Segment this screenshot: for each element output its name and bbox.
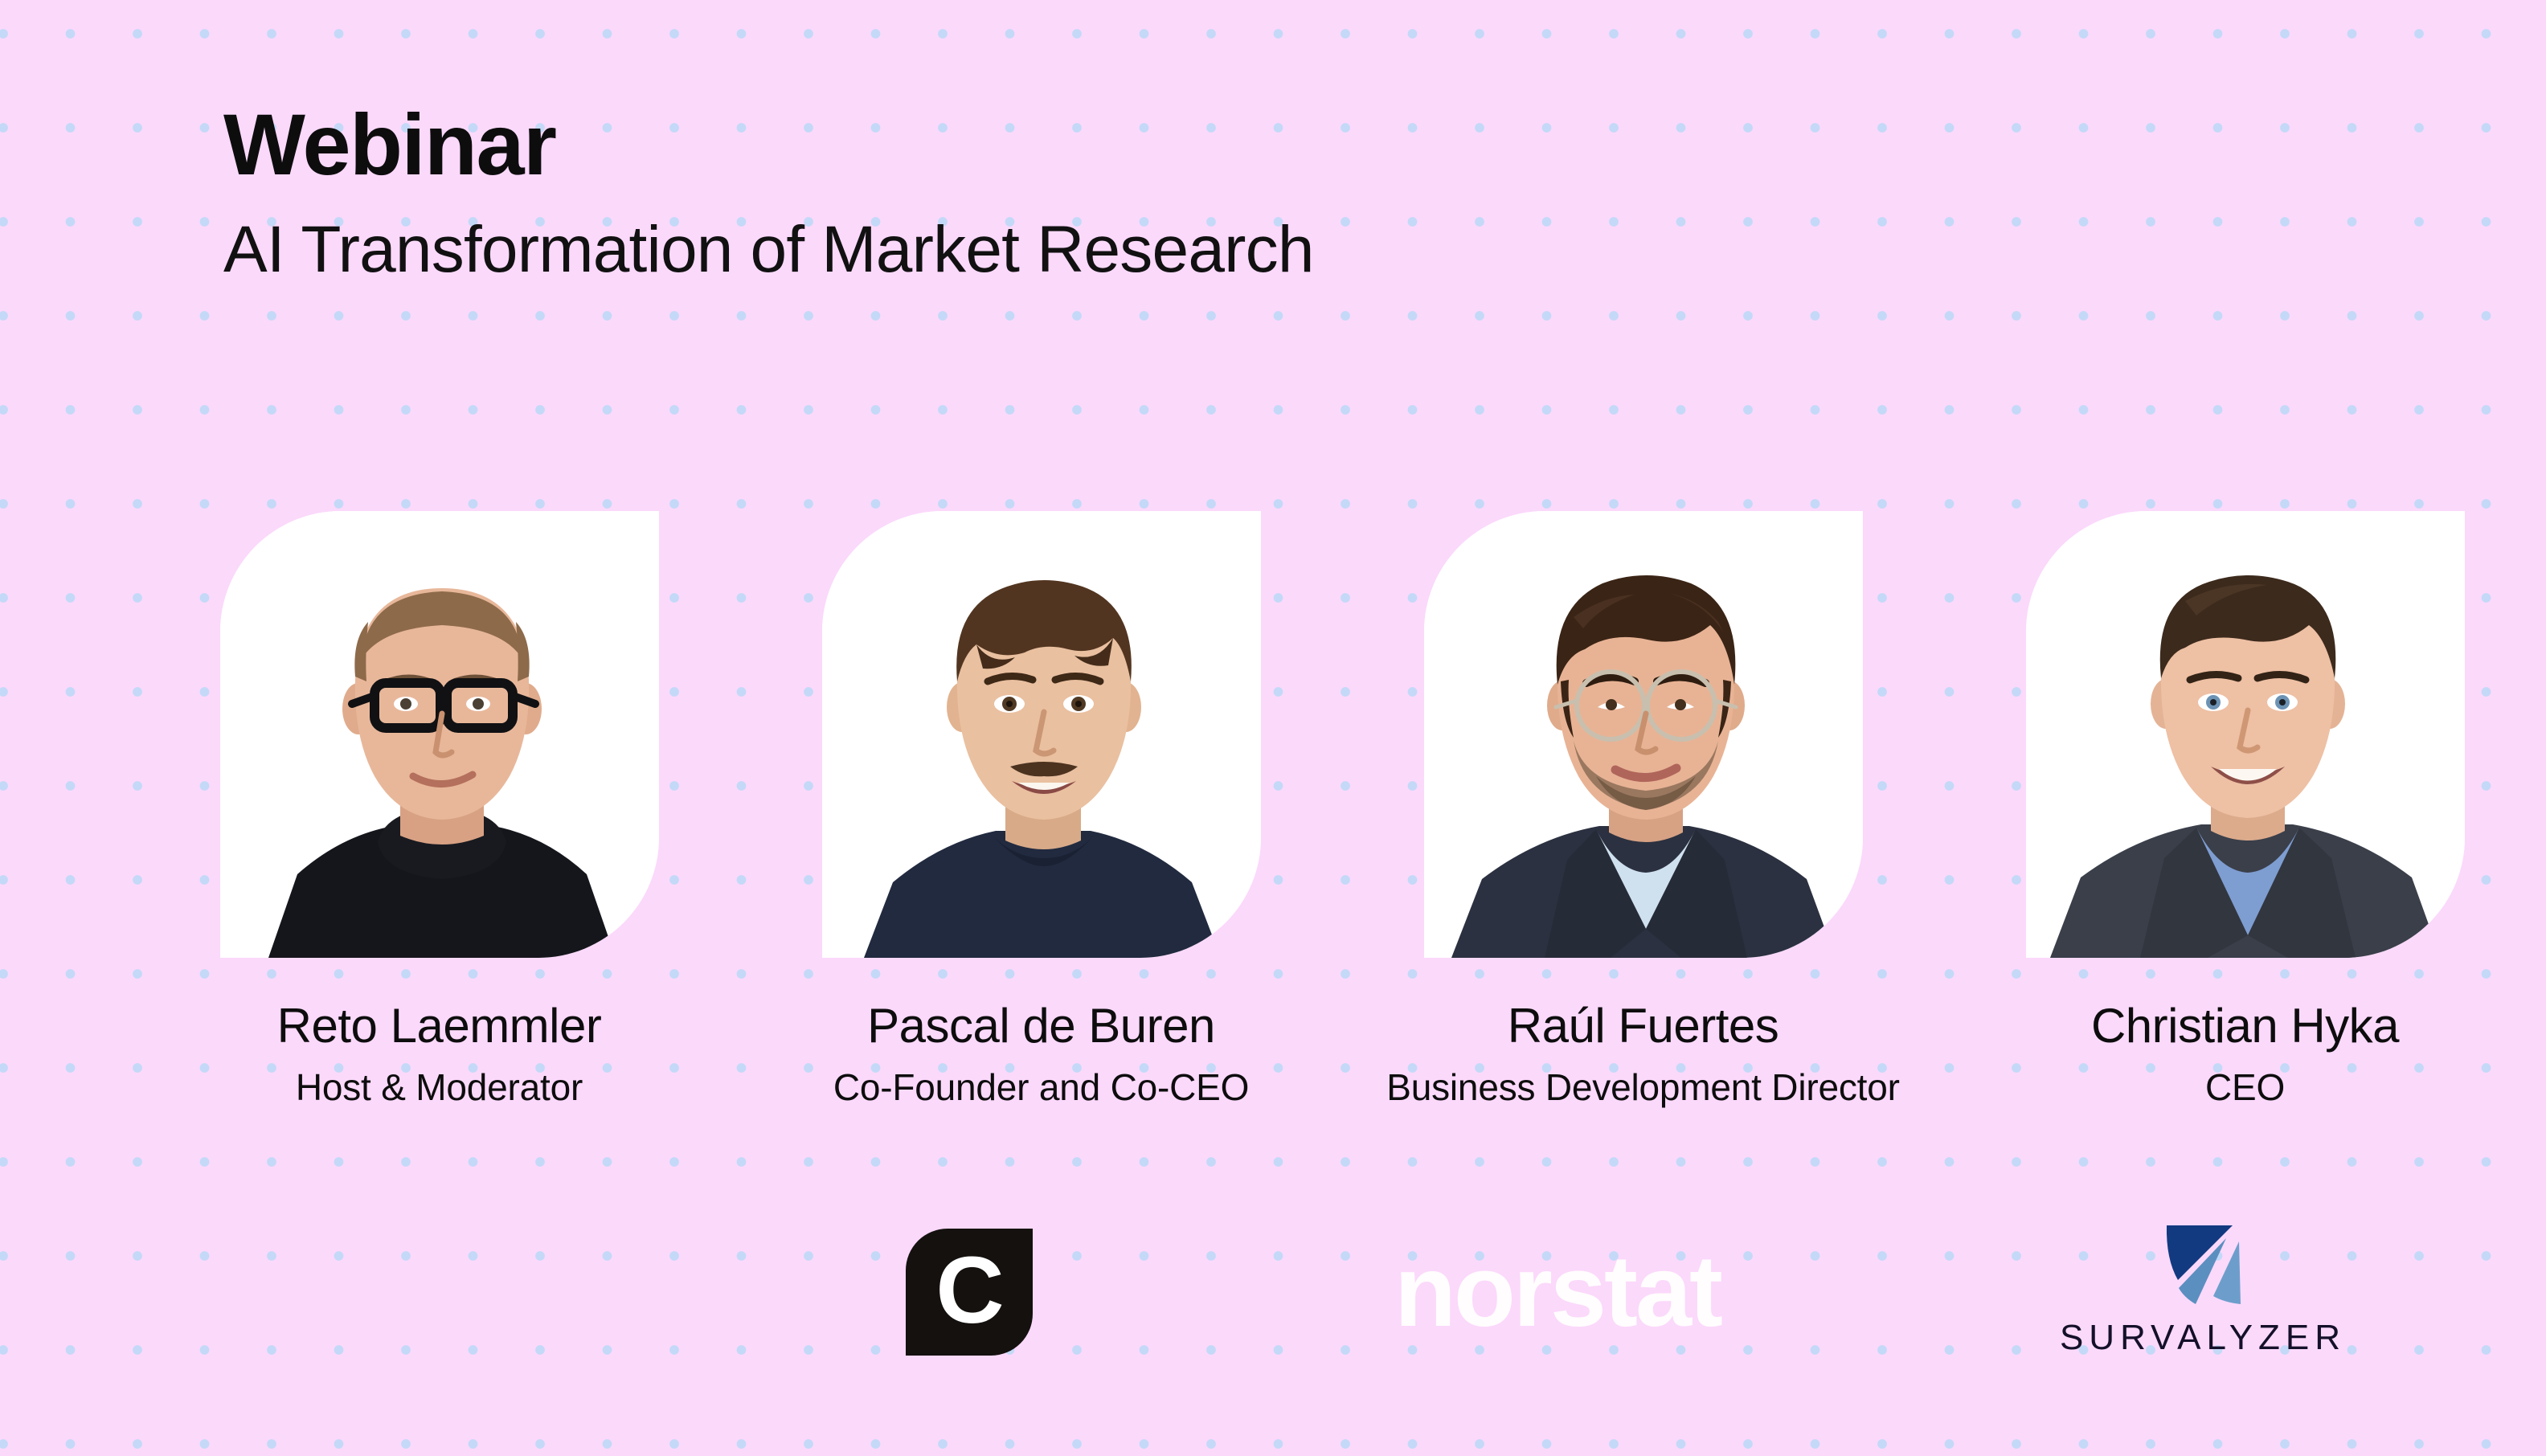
webinar-poster: Webinar AI Transformation of Market Rese… [0,0,2546,1456]
logo-caplena: C [849,1212,1090,1372]
speaker-name: Christian Hyka [2091,1000,2399,1053]
portrait-illustration [220,511,659,958]
speaker-photo-pascal-de-buren [822,511,1261,958]
speaker-role: Host & Moderator [296,1067,583,1108]
speaker-list: Reto Laemmler Host & Moderator [0,511,2546,1108]
speaker-card: Reto Laemmler Host & Moderator [138,511,740,1108]
survalyzer-mark-icon [2143,1221,2263,1314]
survalyzer-wordmark: SURVALYZER [2060,1320,2346,1356]
logo-row: C norstat SURVALYZER [0,1196,2546,1380]
speaker-role: Co-Founder and Co-CEO [833,1067,1249,1108]
norstat-wordmark: norstat [1394,1241,1721,1342]
speaker-card: Pascal de Buren Co-Founder and Co-CEO [740,511,1342,1108]
page-title: Webinar [223,96,2152,194]
portrait-illustration [1424,511,1863,958]
speaker-card: Christian Hyka CEO [1944,511,2546,1108]
speaker-photo-christian-hyka [2026,511,2465,958]
portrait-illustration [822,511,1261,958]
speaker-name: Reto Laemmler [277,1000,602,1053]
speaker-card: Raúl Fuertes Business Development Direct… [1342,511,1944,1108]
logo-survalyzer: SURVALYZER [2054,1204,2352,1372]
header: Webinar AI Transformation of Market Rese… [223,96,2152,288]
speaker-photo-raul-fuertes [1424,511,1863,958]
caplena-letter: C [935,1243,1002,1338]
page-subtitle: AI Transformation of Market Research [223,211,2152,288]
speaker-name: Pascal de Buren [867,1000,1215,1053]
speaker-name: Raúl Fuertes [1508,1000,1779,1053]
speaker-role: CEO [2205,1067,2285,1108]
logo-norstat: norstat [1349,1215,1766,1368]
caplena-mark-icon: C [906,1229,1033,1356]
speaker-photo-reto-laemmler [220,511,659,958]
speaker-role: Business Development Director [1386,1067,1899,1108]
portrait-illustration [2026,511,2465,958]
